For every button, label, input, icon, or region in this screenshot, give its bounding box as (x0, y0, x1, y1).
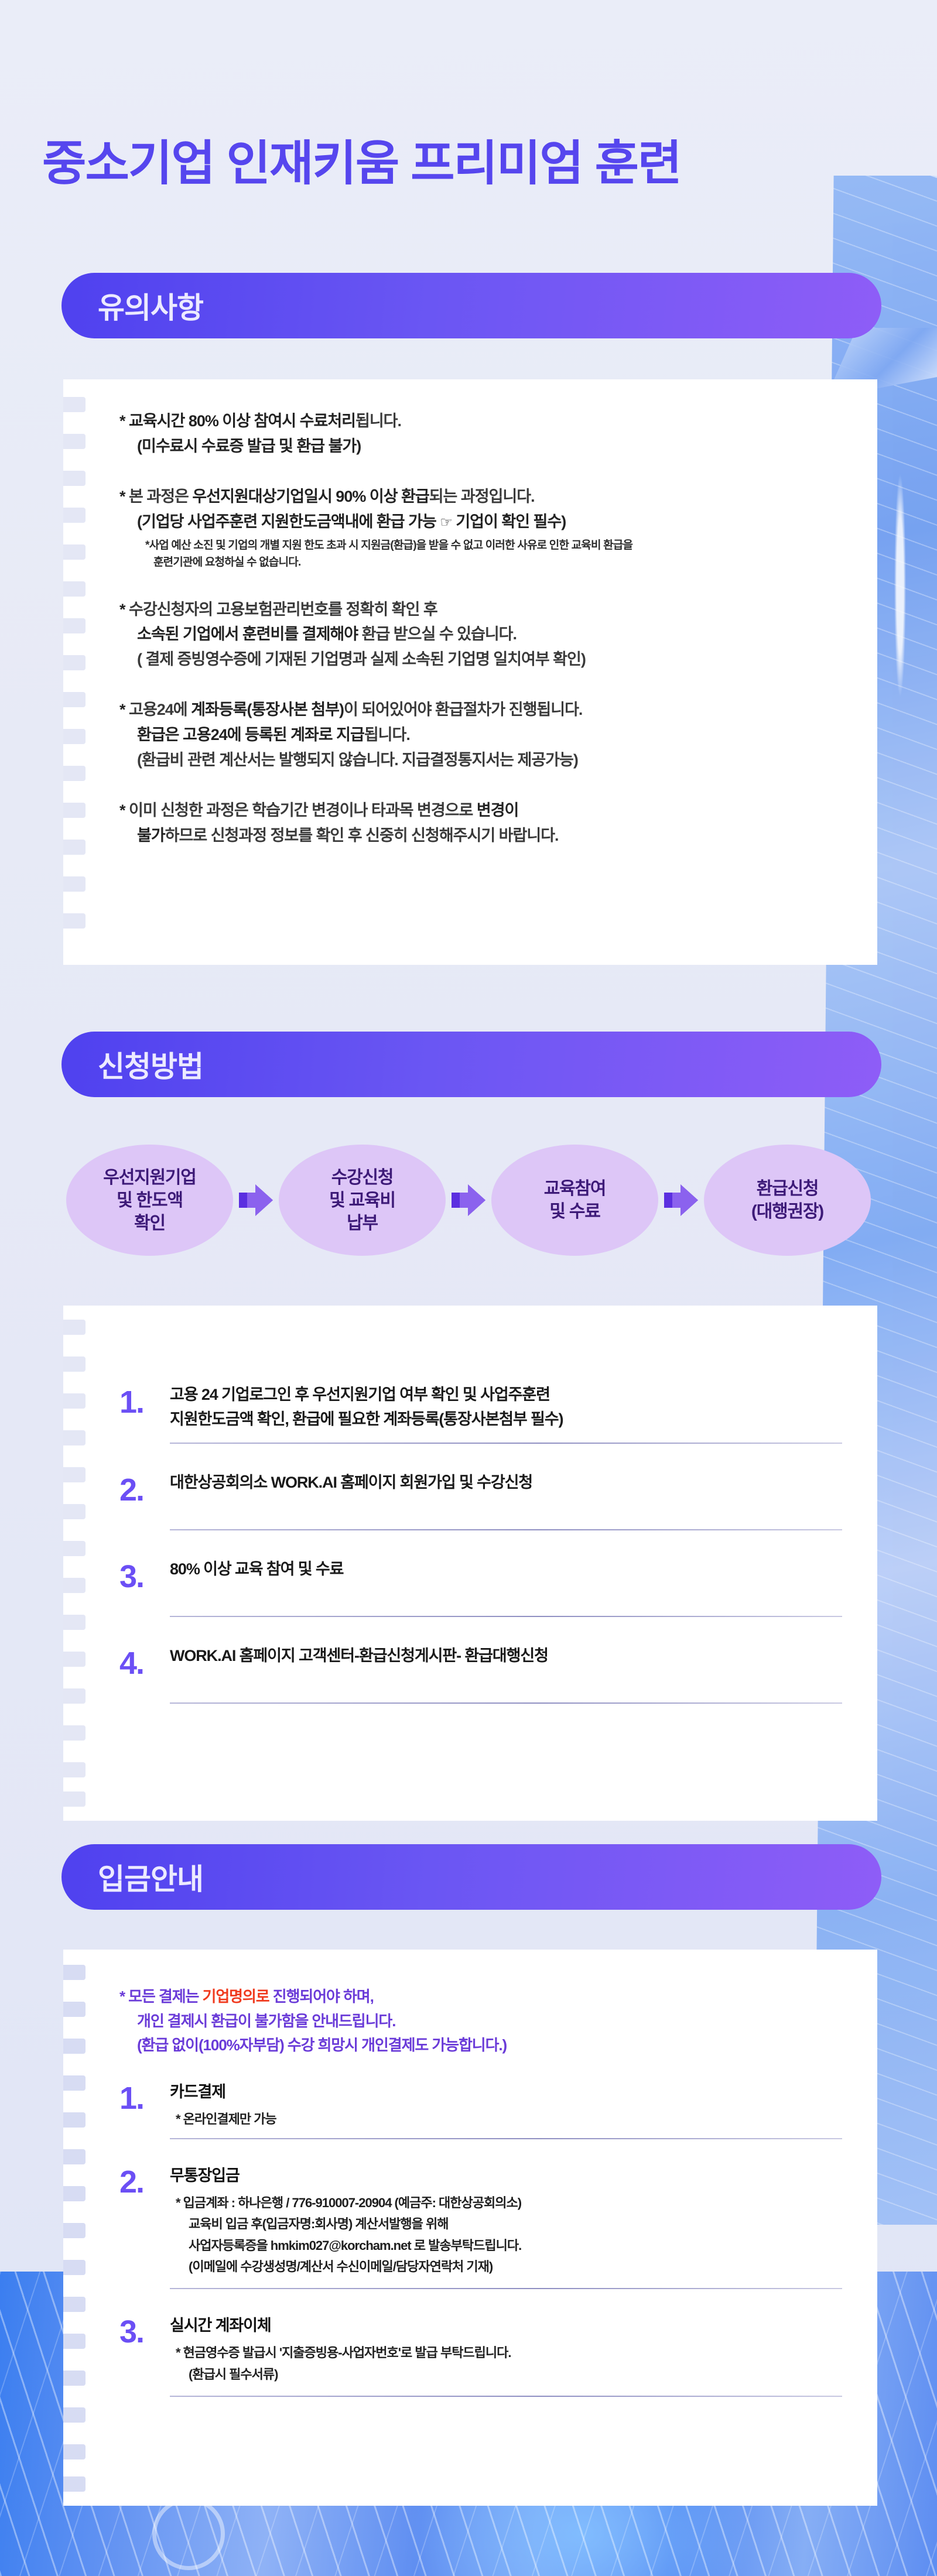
payment-item-detail: * 현금영수증 발급시 '지출증빙용-사업자번호'로 발급 부탁드립니다. (환… (170, 2342, 842, 2385)
apply-step-row: 4. WORK.AI 홈페이지 고객센터-환급신청게시판- 환급대행신청 (119, 1617, 842, 1703)
notice-marker: * (119, 801, 125, 819)
notice-text-bold: 소속된 기업에서 훈련비를 결제해야 (137, 625, 358, 643)
section-header-payment-label: 입금안내 (98, 1856, 203, 1898)
payment-detail-line: * 현금영수증 발급시 '지출증빙용-사업자번호'로 발급 부탁드립니다. (176, 2345, 511, 2360)
notice-text-bold: 계좌등록(통장사본 첨부) (191, 701, 344, 718)
payment-warning-text: 진행되어야 하며, (269, 1988, 374, 2005)
payment-item-detail: * 입금계좌 : 하나은행 / 776-910007-20904 (예금주: 대… (170, 2193, 842, 2277)
notice-marker: * (119, 601, 125, 618)
apply-step-number: 3. (119, 1557, 170, 1592)
notice-text-bold: 변경이 (477, 801, 519, 819)
payment-item-number: 1. (119, 2079, 170, 2114)
page-title: 중소기업 인재키움 프리미엄 훈련 (42, 138, 897, 190)
notice-text-bold: 불가 (137, 827, 165, 844)
payment-item-row: 1. 카드결제 * 온라인결제만 가능 (119, 2073, 842, 2138)
payment-item-title: 무통장입금 (170, 2163, 842, 2186)
notice-line: 불가하므로 신청과정 정보를 확인 후 신중히 신청해주시기 바랍니다. (119, 823, 842, 848)
application-flow-diagram: 우선지원기업및 한도액확인 수강신청및 교육비납부 교육참여및 수료 환급신청(… (0, 1145, 937, 1256)
notice-line: 소속된 기업에서 훈련비를 결제해야 환급 받으실 수 있습니다. (119, 622, 842, 647)
payment-item-row: 2. 무통장입금 * 입금계좌 : 하나은행 / 776-910007-2090… (119, 2139, 842, 2288)
apply-steps-card: 1. 고용 24 기업로그인 후 우선지원기업 여부 확인 및 사업주훈련 지원… (63, 1306, 877, 1821)
notice-text-light: 이 되어있어야 환급절차가 진행됩니다. (344, 701, 582, 718)
payment-detail-line: 교육비 입금 후(입금자명:회사명) 계산서발행을 위해 (176, 2214, 842, 2235)
notice-line: * 고용24에 계좌등록(통장사본 첨부)이 되어있어야 환급절차가 진행됩니다… (119, 697, 842, 722)
notice-text-bold: (기업당 사업주훈련 지원한도금액내에 환급 가능 (137, 513, 440, 530)
payment-item-body: 카드결제 * 온라인결제만 가능 (170, 2079, 842, 2130)
apply-step-text: 고용 24 기업로그인 후 우선지원기업 여부 확인 및 사업주훈련 (170, 1383, 842, 1407)
section-header-notice: 유의사항 (61, 273, 881, 338)
payment-warning-line: (환급 없이(100%자부담) 수강 희망시 개인결제도 가능합니다.) (119, 2033, 842, 2058)
apply-step-body: 80% 이상 교육 참여 및 수료 (170, 1557, 842, 1582)
notice-text-light: 이미 신청한 과정은 학습기간 변경이나 타과목 변경으로 (129, 801, 477, 819)
section-header-apply: 신청방법 (61, 1032, 881, 1097)
payment-item-title: 카드결제 (170, 2079, 842, 2102)
notice-text-light: 본 과정은 (129, 488, 192, 505)
apply-step-row: 1. 고용 24 기업로그인 후 우선지원기업 여부 확인 및 사업주훈련 지원… (119, 1370, 842, 1443)
notice-line: * 수강신청자의 고용보험관리번호를 정확히 확인 후 (119, 597, 842, 622)
payment-detail-email-line: 사업자등록증을 hmkim027@korcham.net 로 발송부탁드립니다. (176, 2235, 842, 2256)
notice-marker: * (119, 488, 125, 505)
apply-step-text: 지원한도금액 확인, 환급에 필요한 계좌등록(통장사본첨부 필수) (170, 1407, 842, 1432)
notice-item: * 이미 신청한 과정은 학습기간 변경이나 타과목 변경으로 변경이 불가하므… (119, 798, 842, 848)
apply-step-body: 대한상공회의소 WORK.AI 홈페이지 회원가입 및 수강신청 (170, 1471, 842, 1495)
apply-step-text: 대한상공회의소 WORK.AI 홈페이지 회원가입 및 수강신청 (170, 1471, 842, 1495)
notice-subnote-line: *사업 예산 소진 및 기업의 개별 지원 한도 초과 시 지원금(환급)을 받… (145, 539, 632, 551)
notice-item: * 교육시간 80% 이상 참여시 수료처리됩니다. (미수료시 수료증 발급 … (119, 409, 842, 458)
payment-item-title: 실시간 계좌이체 (170, 2313, 842, 2335)
apply-step-text: WORK.AI 홈페이지 고객센터-환급신청게시판- 환급대행신청 (170, 1644, 842, 1669)
notice-text-light: ( 결제 증빙영수증에 기재된 기업명과 실제 소속된 기업명 일치여부 확인) (137, 650, 586, 668)
notice-text-bold: 우선지원대상기업일시 90% 이상 환급 (192, 488, 429, 505)
apply-step-row: 2. 대한상공회의소 WORK.AI 홈페이지 회원가입 및 수강신청 (119, 1444, 842, 1529)
notice-line: * 교육시간 80% 이상 참여시 수료처리됩니다. (119, 409, 842, 434)
notice-subnote: *사업 예산 소진 및 기업의 개별 지원 한도 초과 시 지원금(환급)을 받… (119, 537, 842, 571)
notice-text-bold: 환급은 고용24에 등록된 계좌로 지급 (137, 726, 364, 744)
payment-item-detail: * 온라인결제만 가능 (170, 2109, 842, 2130)
flow-step-label: 우선지원기업및 한도액확인 (103, 1166, 196, 1235)
flow-step: 환급신청(대행권장) (704, 1145, 871, 1256)
payment-warning-marker: * (119, 1988, 125, 2005)
arrow-right-icon (658, 1180, 704, 1221)
bank-account-line: * 입금계좌 : 하나은행 / 776-910007-20904 (예금주: 대… (176, 2195, 521, 2210)
payment-warning-line: * 모든 결제는 기업명의로 진행되어야 하며, (119, 1985, 842, 2009)
notice-line: (환급비 관련 계산서는 발행되지 않습니다. 지급결정통지서는 제공가능) (119, 748, 842, 773)
flow-step: 수강신청및 교육비납부 (279, 1145, 446, 1256)
flow-step: 우선지원기업및 한도액확인 (66, 1145, 233, 1256)
notice-line: ( 결제 증빙영수증에 기재된 기업명과 실제 소속된 기업명 일치여부 확인) (119, 647, 842, 672)
payment-detail-line: (이메일에 수강생성명/계산서 수신이메일/담당자연락처 기재) (176, 2256, 842, 2277)
divider (170, 1703, 842, 1704)
section-header-notice-label: 유의사항 (98, 285, 203, 327)
notice-text-light: 되는 과정입니다. (429, 488, 535, 505)
notice-text-light: 수강신청자의 고용보험관리번호를 정확히 확인 후 (129, 601, 437, 618)
payment-detail-line: (환급시 필수서류) (176, 2364, 842, 2385)
notice-marker: * (119, 412, 125, 430)
notice-line: (미수료시 수료증 발급 및 환급 불가) (119, 434, 842, 459)
flow-step-label: 교육참여및 수료 (544, 1177, 606, 1223)
notice-marker: * (119, 701, 125, 718)
payment-warning-highlight: 기업명의로 (203, 1988, 269, 2005)
flow-step: 교육참여및 수료 (491, 1145, 658, 1256)
notice-item: * 수강신청자의 고용보험관리번호를 정확히 확인 후 소속된 기업에서 훈련비… (119, 597, 842, 672)
payment-item-row: 3. 실시간 계좌이체 * 현금영수증 발급시 '지출증빙용-사업자번호'로 발… (119, 2289, 842, 2396)
notice-line: 환급은 고용24에 등록된 계좌로 지급됩니다. (119, 722, 842, 748)
section-header-apply-label: 신청방법 (98, 1043, 203, 1085)
arrow-right-icon (446, 1180, 491, 1221)
payment-item-body: 무통장입금 * 입금계좌 : 하나은행 / 776-910007-20904 (… (170, 2163, 842, 2277)
flow-step-label: 환급신청(대행권장) (751, 1177, 823, 1223)
apply-step-body: WORK.AI 홈페이지 고객센터-환급신청게시판- 환급대행신청 (170, 1644, 842, 1669)
payment-item-number: 2. (119, 2163, 170, 2198)
notice-item: * 본 과정은 우선지원대상기업일시 90% 이상 환급되는 과정입니다. (기… (119, 484, 842, 571)
apply-step-row: 3. 80% 이상 교육 참여 및 수료 (119, 1530, 842, 1616)
notice-line: * 본 과정은 우선지원대상기업일시 90% 이상 환급되는 과정입니다. (119, 484, 842, 509)
notice-text-light: (환급비 관련 계산서는 발행되지 않습니다. 지급결정통지서는 제공가능) (137, 751, 578, 769)
arrow-right-icon (233, 1180, 279, 1221)
notice-line: (기업당 사업주훈련 지원한도금액내에 환급 가능 ☞ 기업이 확인 필수) (119, 509, 842, 535)
payment-card: * 모든 결제는 기업명의로 진행되어야 하며, 개인 결제시 환급이 불가함을… (63, 1950, 877, 2506)
payment-warning-line: 개인 결제시 환급이 불가함을 안내드립니다. (119, 2009, 842, 2034)
section-header-payment: 입금안내 (61, 1844, 881, 1910)
notice-text-bold: 교육시간 80% 이상 참여시 수료처리 (129, 412, 355, 430)
pointing-hand-icon: ☞ (440, 515, 452, 530)
payment-warning: * 모든 결제는 기업명의로 진행되어야 하며, 개인 결제시 환급이 불가함을… (119, 1985, 842, 2058)
apply-step-body: 고용 24 기업로그인 후 우선지원기업 여부 확인 및 사업주훈련 지원한도금… (170, 1383, 842, 1432)
notice-card: * 교육시간 80% 이상 참여시 수료처리됩니다. (미수료시 수료증 발급 … (63, 379, 877, 965)
notice-text-bold: 기업이 확인 필수) (452, 513, 566, 530)
notice-text-light: 환급 받으실 수 있습니다. (358, 625, 517, 643)
notice-text-light: 됩니다. (364, 726, 410, 744)
flow-step-label: 수강신청및 교육비납부 (329, 1166, 395, 1235)
apply-step-text: 80% 이상 교육 참여 및 수료 (170, 1557, 842, 1582)
payment-item-body: 실시간 계좌이체 * 현금영수증 발급시 '지출증빙용-사업자번호'로 발급 부… (170, 2313, 842, 2385)
apply-step-number: 4. (119, 1644, 170, 1679)
apply-step-number: 1. (119, 1383, 170, 1418)
notice-line: * 이미 신청한 과정은 학습기간 변경이나 타과목 변경으로 변경이 (119, 798, 842, 823)
divider (170, 2396, 842, 2397)
payment-item-number: 3. (119, 2313, 170, 2348)
payment-warning-text: 모든 결제는 (128, 1988, 202, 2005)
apply-step-number: 2. (119, 1471, 170, 1506)
notice-text-light: 됩니다. (355, 412, 401, 430)
notice-text-light: 고용24에 (129, 701, 191, 718)
notice-subnote-line: 훈련기관에 요청하실 수 없습니다. (145, 554, 842, 571)
notice-text-light: 하므로 신청과정 정보를 확인 후 신중히 신청해주시기 바랍니다. (165, 827, 559, 844)
notice-item: * 고용24에 계좌등록(통장사본 첨부)이 되어있어야 환급절차가 진행됩니다… (119, 697, 842, 772)
